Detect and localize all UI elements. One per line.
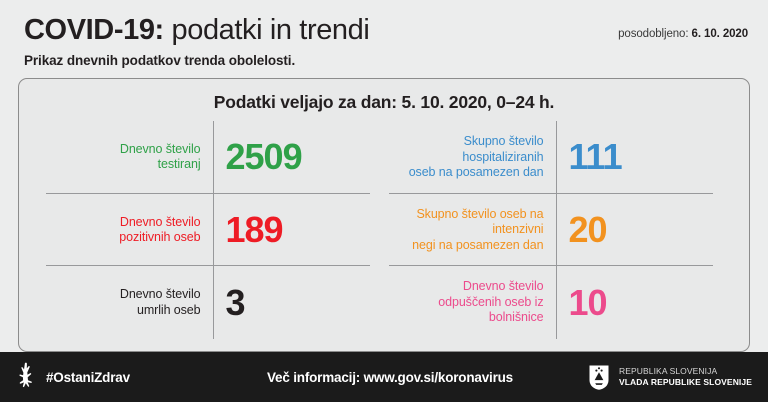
stat-label-line2: testiranj	[41, 157, 201, 173]
stat-label-line2: negi na posamezen dan	[384, 238, 544, 254]
stat-label-line2: odpuščenih oseb iz bolnišnice	[384, 295, 544, 326]
page-title-rest: podatki in trendi	[164, 14, 370, 46]
slovenia-coat-of-arms-icon	[588, 364, 610, 391]
stat-row: Skupno število oseb na intenzivni negi n…	[384, 194, 727, 267]
stat-label-line1: Skupno število oseb na intenzivni	[384, 207, 544, 238]
stats-card-title: Podatki veljajo za dan: 5. 10. 2020, 0–2…	[29, 92, 739, 113]
stats-grid: Dnevno število testiranj 2509 Dnevno šte…	[29, 121, 739, 343]
stat-row: Dnevno število umrlih oseb 3	[41, 266, 384, 339]
stat-value: 3	[213, 284, 385, 322]
stat-row: Skupno število hospitaliziranih oseb na …	[384, 121, 727, 194]
page-header: COVID-19: podatki in trendi Prikaz dnevn…	[0, 0, 768, 78]
stay-healthy-figure-icon	[16, 362, 36, 392]
stat-label: Dnevno število testiranj	[41, 142, 213, 173]
government-name-line2: VLADA REPUBLIKE SLOVENIJE	[619, 377, 752, 389]
stat-label-line1: Dnevno število	[41, 215, 201, 231]
page-subtitle: Prikaz dnevnih podatkov trenda obolelost…	[24, 53, 750, 68]
stats-card: Podatki veljajo za dan: 5. 10. 2020, 0–2…	[18, 78, 750, 352]
stat-row: Dnevno število pozitivnih oseb 189	[41, 194, 384, 267]
government-name-line1: REPUBLIKA SLOVENIJA	[619, 366, 752, 378]
last-updated-date: 6. 10. 2020	[692, 28, 748, 40]
last-updated-label: posodobljeno:	[618, 28, 688, 40]
stats-column-left: Dnevno število testiranj 2509 Dnevno šte…	[41, 121, 384, 339]
page-footer: #OstaniZdrav Več informacij: www.gov.si/…	[0, 352, 768, 402]
stat-label-line1: Dnevno število	[41, 142, 201, 158]
stat-label: Dnevno število odpuščenih oseb iz bolniš…	[384, 279, 556, 326]
stat-label-line2: umrlih oseb	[41, 303, 201, 319]
stat-label-line1: Dnevno število	[41, 287, 201, 303]
page-title-strong: COVID-19:	[24, 14, 164, 46]
stat-label: Dnevno število pozitivnih oseb	[41, 215, 213, 246]
hashtag-ostanizdrav[interactable]: #OstaniZdrav	[46, 370, 130, 385]
stat-value: 10	[556, 284, 728, 322]
stat-label: Skupno število hospitaliziranih oseb na …	[384, 134, 556, 181]
stat-value: 189	[213, 211, 385, 249]
stat-label-line1: Skupno število hospitaliziranih	[384, 134, 544, 165]
stat-label-line2: oseb na posamezen dan	[384, 165, 544, 181]
stat-label-line2: pozitivnih oseb	[41, 230, 201, 246]
footer-campaign: #OstaniZdrav	[16, 362, 246, 392]
stat-label: Skupno število oseb na intenzivni negi n…	[384, 207, 556, 254]
stat-row: Dnevno število testiranj 2509	[41, 121, 384, 194]
stat-label-line1: Dnevno število	[384, 279, 544, 295]
infographic-page: COVID-19: podatki in trendi Prikaz dnevn…	[0, 0, 768, 402]
stat-value: 111	[556, 138, 728, 176]
footer-government-brand: REPUBLIKA SLOVENIJA VLADA REPUBLIKE SLOV…	[562, 364, 752, 391]
footer-more-info[interactable]: Več informacij: www.gov.si/koronavirus	[232, 370, 548, 385]
stat-row: Dnevno število odpuščenih oseb iz bolniš…	[384, 266, 727, 339]
last-updated: posodobljeno: 6. 10. 2020	[618, 28, 748, 40]
stat-value: 20	[556, 211, 728, 249]
government-name: REPUBLIKA SLOVENIJA VLADA REPUBLIKE SLOV…	[619, 366, 752, 389]
stat-value: 2509	[213, 138, 385, 176]
stat-label: Dnevno število umrlih oseb	[41, 287, 213, 318]
stats-column-right: Skupno število hospitaliziranih oseb na …	[384, 121, 727, 339]
